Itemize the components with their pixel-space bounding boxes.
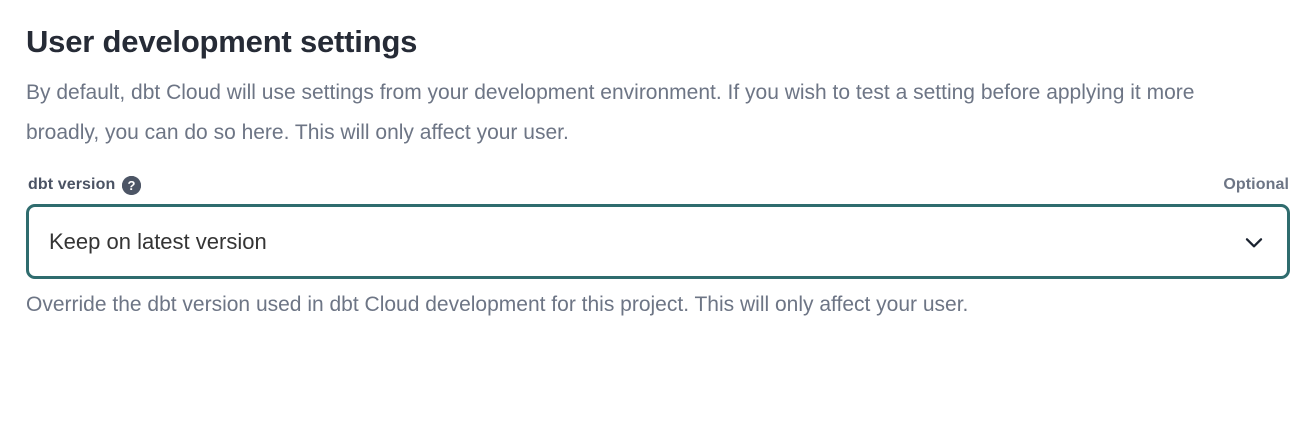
dbt-version-select[interactable]: Keep on latest version (26, 204, 1290, 279)
page-title: User development settings (26, 0, 1290, 64)
dbt-version-label: dbt version (28, 175, 115, 195)
chevron-down-icon[interactable] (1239, 227, 1269, 257)
optional-badge: Optional (1223, 175, 1289, 195)
dbt-version-selected-value: Keep on latest version (49, 228, 1239, 256)
svg-text:?: ? (128, 178, 136, 193)
dbt-version-helper-text: Override the dbt version used in dbt Clo… (26, 279, 1290, 320)
dbt-version-field: dbt version ? Optional Keep on latest ve… (26, 153, 1290, 320)
user-development-settings-page: User development settings By default, db… (0, 0, 1316, 430)
page-description: By default, dbt Cloud will use settings … (26, 64, 1241, 153)
dbt-version-label-row: dbt version ? Optional (26, 175, 1290, 204)
dbt-version-label-group: dbt version ? (28, 175, 141, 195)
help-circle-icon[interactable]: ? (122, 176, 141, 195)
